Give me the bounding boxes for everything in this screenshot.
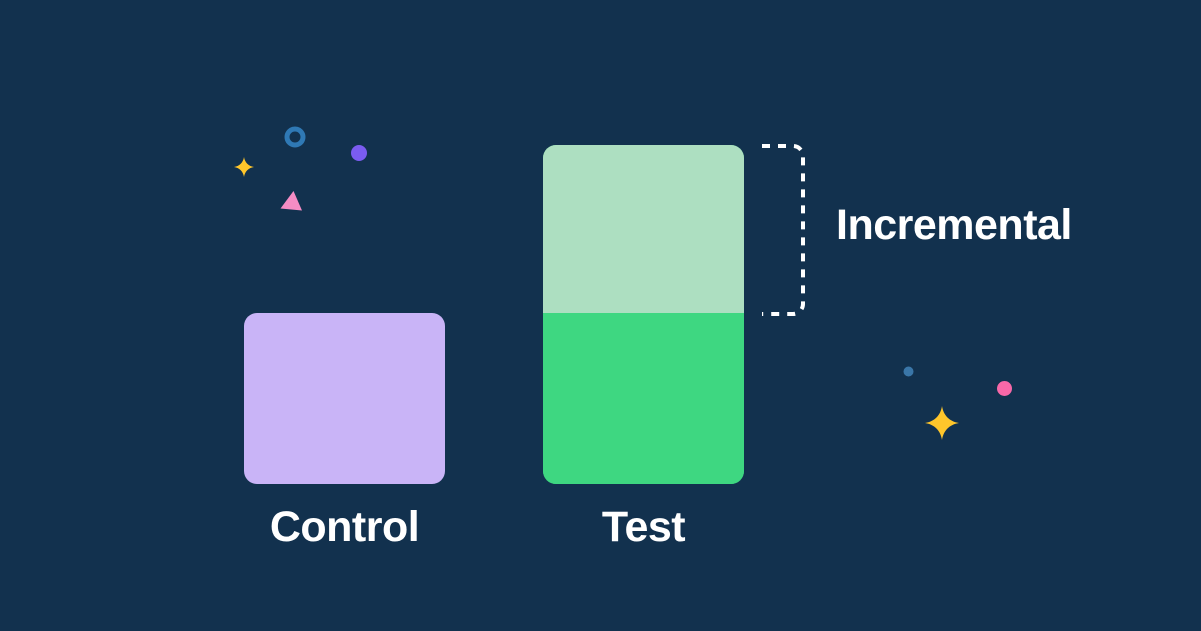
bar-label-control: Control (244, 503, 445, 552)
incremental-bracket-icon (760, 143, 806, 317)
bar-segment-incremental (543, 145, 744, 313)
circle-icon (350, 144, 368, 162)
circle-icon (903, 366, 914, 377)
ring-icon (282, 124, 308, 150)
triangle-icon (278, 188, 304, 214)
sparkle-icon (234, 157, 254, 177)
bar-control (244, 313, 445, 484)
circle-icon (996, 380, 1013, 397)
sparkle-icon (925, 406, 959, 440)
bar-segment-base (543, 313, 744, 484)
bar-test (543, 145, 744, 484)
incremental-annotation-label: Incremental (836, 201, 1072, 250)
chart-canvas: Control Test Incremental (0, 0, 1201, 631)
bar-label-test: Test (543, 503, 744, 552)
